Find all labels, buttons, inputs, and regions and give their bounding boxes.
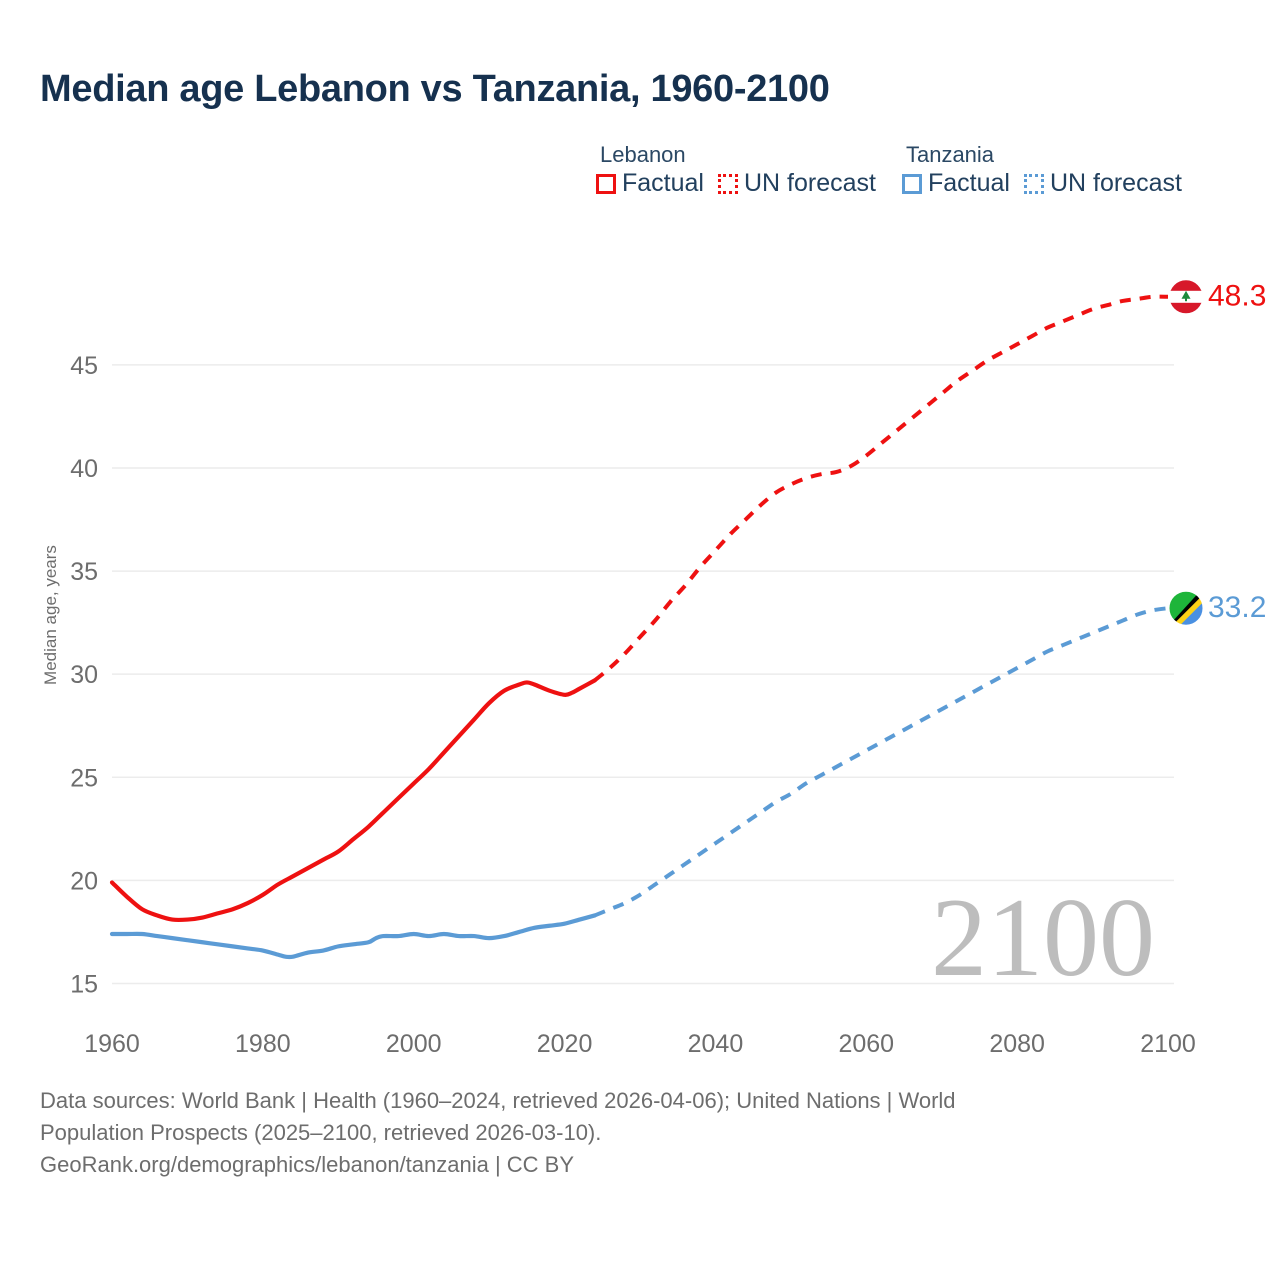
x-tick-label: 2100 bbox=[1140, 1030, 1196, 1058]
y-tick-label: 30 bbox=[70, 661, 98, 689]
legend-swatch-dotted-icon bbox=[718, 174, 738, 194]
x-tick-label: 2000 bbox=[386, 1030, 442, 1058]
footer-note: Data sources: World Bank | Health (1960–… bbox=[40, 1085, 1220, 1181]
y-axis-ticks: 15202530354045 bbox=[70, 352, 98, 999]
legend-item-tanzania-forecast[interactable]: UN forecast bbox=[1024, 171, 1182, 196]
page-title: Median age Lebanon vs Tanzania, 1960-210… bbox=[40, 68, 830, 111]
legend-swatch-solid-icon bbox=[902, 174, 922, 194]
series-line-lebanon-factual bbox=[112, 680, 595, 920]
legend-swatch-dotted-icon bbox=[1024, 174, 1044, 194]
chart-page: Median age Lebanon vs Tanzania, 1960-210… bbox=[0, 0, 1280, 1280]
y-tick-label: 40 bbox=[70, 455, 98, 483]
legend-swatch-solid-icon bbox=[596, 174, 616, 194]
legend-item-lebanon-forecast[interactable]: UN forecast bbox=[718, 171, 876, 196]
y-tick-label: 35 bbox=[70, 558, 98, 586]
legend-item-label: Factual bbox=[928, 171, 1010, 196]
y-tick-label: 20 bbox=[70, 867, 98, 895]
chart-legend: Lebanon Factual UN forecast Tanzania Fac… bbox=[596, 142, 1182, 196]
legend-item-label: Factual bbox=[622, 171, 704, 196]
x-tick-label: 2040 bbox=[688, 1030, 744, 1058]
legend-item-lebanon-factual[interactable]: Factual bbox=[596, 171, 704, 196]
x-tick-label: 2060 bbox=[838, 1030, 894, 1058]
y-tick-label: 15 bbox=[70, 971, 98, 999]
y-tick-label: 25 bbox=[70, 764, 98, 792]
legend-item-label: UN forecast bbox=[1050, 171, 1182, 196]
footer-line-3[interactable]: GeoRank.org/demographics/lebanon/tanzani… bbox=[40, 1149, 1220, 1181]
legend-group-lebanon: Lebanon Factual UN forecast bbox=[596, 142, 876, 196]
x-axis-ticks: 19601980200020202040206020802100 bbox=[84, 1030, 1196, 1058]
legend-items-lebanon: Factual UN forecast bbox=[596, 171, 876, 196]
endpoint-markers: 48.333.2 bbox=[1169, 280, 1266, 625]
x-tick-label: 1980 bbox=[235, 1030, 291, 1058]
footer-line-2: Population Prospects (2025–2100, retriev… bbox=[40, 1117, 1220, 1149]
endpoint-value-lebanon: 48.3 bbox=[1208, 280, 1266, 313]
series-line-tanzania-forecast bbox=[595, 608, 1168, 915]
watermark-year: 2100 bbox=[931, 876, 1155, 1000]
endpoint-value-tanzania: 33.2 bbox=[1208, 591, 1266, 624]
data-series bbox=[112, 297, 1168, 957]
series-line-lebanon-forecast bbox=[595, 297, 1168, 681]
line-chart: 15202530354045 1960198020002020204020602… bbox=[0, 230, 1280, 1060]
footer-line-1: Data sources: World Bank | Health (1960–… bbox=[40, 1085, 1220, 1117]
legend-country-lebanon: Lebanon bbox=[596, 142, 876, 168]
legend-item-tanzania-factual[interactable]: Factual bbox=[902, 171, 1010, 196]
legend-items-tanzania: Factual UN forecast bbox=[902, 171, 1182, 196]
y-tick-label: 45 bbox=[70, 352, 98, 380]
legend-group-tanzania: Tanzania Factual UN forecast bbox=[902, 142, 1182, 196]
x-tick-label: 2020 bbox=[537, 1030, 593, 1058]
plot-area: 15202530354045 1960198020002020204020602… bbox=[0, 230, 1280, 1060]
legend-item-label: UN forecast bbox=[744, 171, 876, 196]
x-tick-label: 2080 bbox=[989, 1030, 1045, 1058]
lebanon-flag bbox=[1169, 280, 1203, 314]
x-tick-label: 1960 bbox=[84, 1030, 140, 1058]
y-axis-title: Median age, years bbox=[41, 545, 60, 685]
legend-country-tanzania: Tanzania bbox=[902, 142, 1182, 168]
tanzania-flag bbox=[1169, 591, 1203, 625]
